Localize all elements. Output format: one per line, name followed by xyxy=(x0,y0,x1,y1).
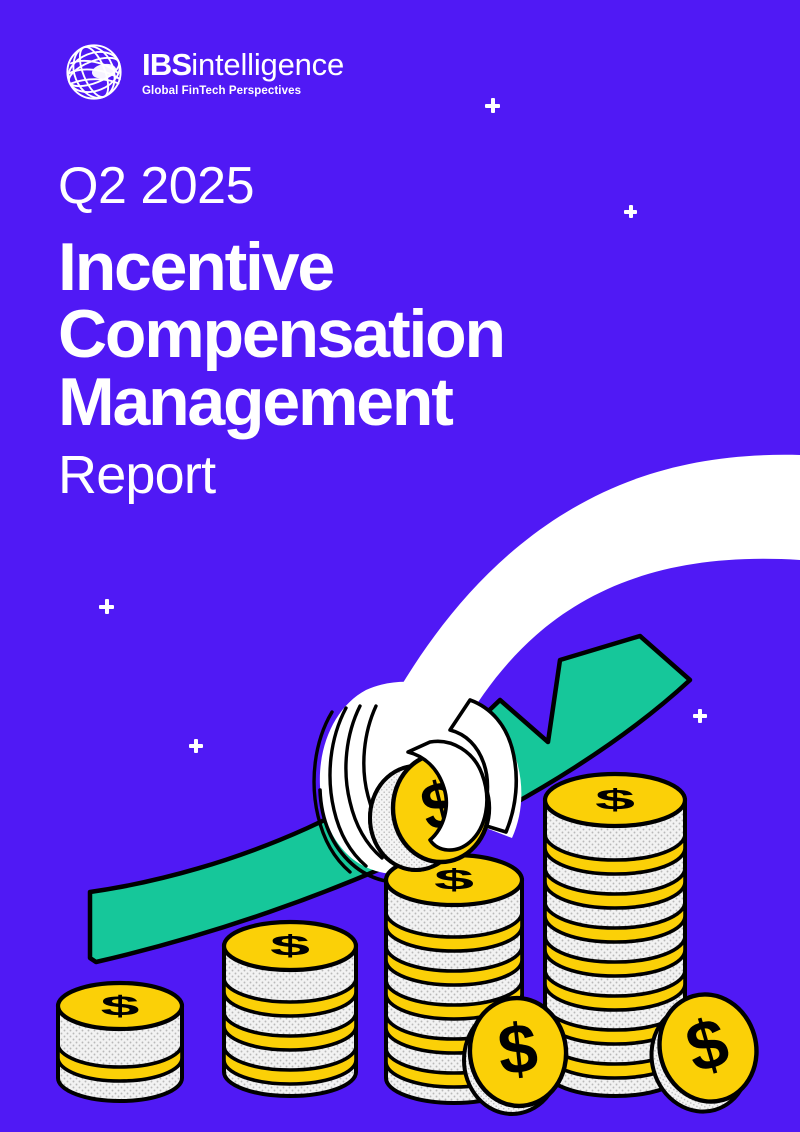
quarter-label: Q2 2025 xyxy=(58,160,678,212)
logo-word-light: intelligence xyxy=(191,47,344,82)
ibs-intelligence-logo: IBSintelligence Global FinTech Perspecti… xyxy=(58,36,344,108)
svg-text:$: $ xyxy=(101,991,140,1022)
logo-wordmark: IBSintelligence xyxy=(142,49,344,81)
report-cover-page: $ $ xyxy=(0,0,800,1132)
svg-text:$: $ xyxy=(494,1008,541,1090)
cover-title-block: Q2 2025 Incentive Compensation Managemen… xyxy=(58,160,678,502)
logo-text-block: IBSintelligence Global FinTech Perspecti… xyxy=(142,47,344,98)
svg-text:$: $ xyxy=(595,783,635,816)
dollar-sign-glyph: $ xyxy=(595,783,635,816)
coin-stack-1: $ xyxy=(58,983,182,1101)
svg-text:$: $ xyxy=(270,929,310,962)
title-line-2: Compensation xyxy=(58,301,678,368)
dollar-sign-glyph: $ xyxy=(434,863,474,896)
page-title: Incentive Compensation Management xyxy=(58,234,678,436)
svg-text:$: $ xyxy=(434,863,474,896)
dollar-sign-glyph: $ xyxy=(101,991,140,1022)
logo-tagline: Global FinTech Perspectives xyxy=(142,85,344,97)
globe-wireframe-icon xyxy=(58,36,130,108)
dollar-sign-glyph: $ xyxy=(270,929,310,962)
title-line-3: Management xyxy=(58,369,678,436)
logo-word-bold: IBS xyxy=(142,47,191,82)
coin-stack-2: $ xyxy=(224,922,356,1096)
page-subtitle: Report xyxy=(58,448,678,502)
title-line-1: Incentive xyxy=(58,234,678,301)
